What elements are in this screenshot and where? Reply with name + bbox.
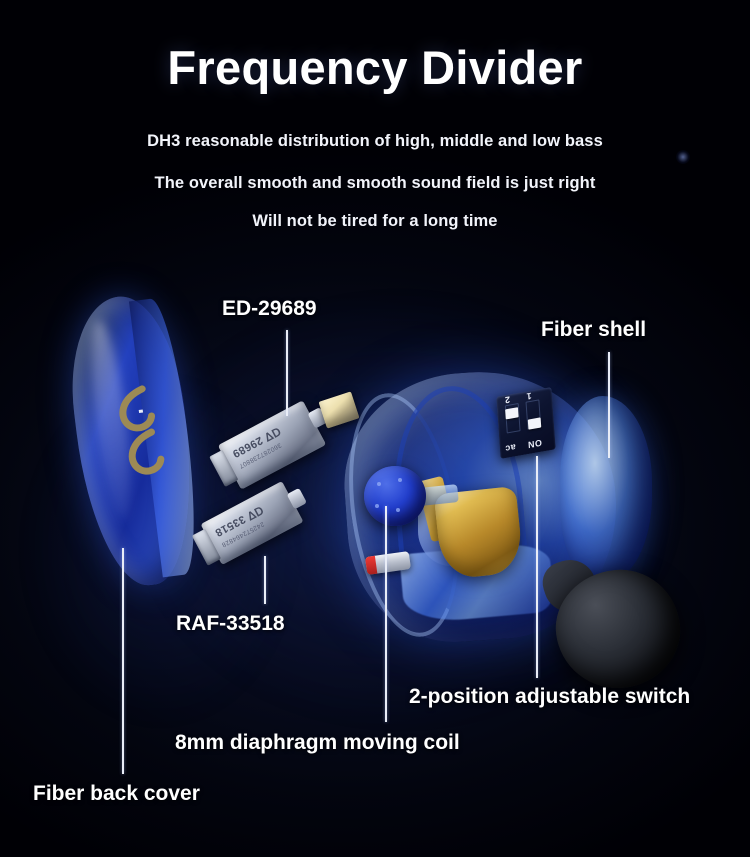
- callout-ed-29689: ED-29689: [222, 297, 317, 321]
- dip-label-2: 2: [504, 394, 510, 405]
- product-infographic: Frequency Divider DH3 reasonable distrib…: [0, 0, 750, 857]
- callout-diaphragm-moving-coil: 8mm diaphragm moving coil: [175, 731, 460, 755]
- page-title: Frequency Divider: [0, 40, 750, 95]
- shell-nozzle: [560, 396, 652, 582]
- subtitle-line-2: The overall smooth and smooth sound fiel…: [0, 174, 750, 193]
- ba-driver-raf33518: ᗡᐁ 33518 242572464828: [201, 481, 304, 565]
- driver-screw-icon: [398, 478, 402, 482]
- leader-line-fiber-shell: [608, 352, 610, 458]
- callout-raf-33518: RAF-33518: [176, 612, 285, 636]
- leader-line-raf33518: [264, 556, 266, 604]
- leader-line-ed29689: [286, 330, 288, 416]
- background-sparkle-icon: [676, 150, 690, 164]
- dynamic-driver-module: [364, 466, 426, 526]
- driver-screw-icon: [396, 508, 400, 512]
- dip-slider-2[interactable]: [528, 417, 542, 429]
- leader-line-moving-coil: [385, 506, 387, 722]
- ba-driver-ed29689: ᗡᐁ 29689 360287238807: [218, 400, 326, 489]
- driver-screw-icon: [375, 504, 379, 508]
- dip-switch-block[interactable]: 2 1 ac ON: [496, 387, 555, 459]
- dip-label-on: ON: [527, 438, 542, 451]
- leader-line-fiber-back-cover: [122, 548, 124, 774]
- dip-label-off: ac: [505, 442, 517, 454]
- driver-screw-icon: [377, 482, 381, 486]
- subtitle-line-1: DH3 reasonable distribution of high, mid…: [0, 132, 750, 151]
- crossover-capacitor-part: [319, 391, 360, 428]
- dip-label-1: 1: [526, 391, 532, 402]
- callout-fiber-shell: Fiber shell: [541, 318, 646, 342]
- leader-line-switch: [536, 456, 538, 678]
- callout-fiber-back-cover: Fiber back cover: [33, 782, 200, 806]
- callout-two-position-switch: 2-position adjustable switch: [409, 685, 690, 709]
- subtitle-line-3: Will not be tired for a long time: [0, 212, 750, 231]
